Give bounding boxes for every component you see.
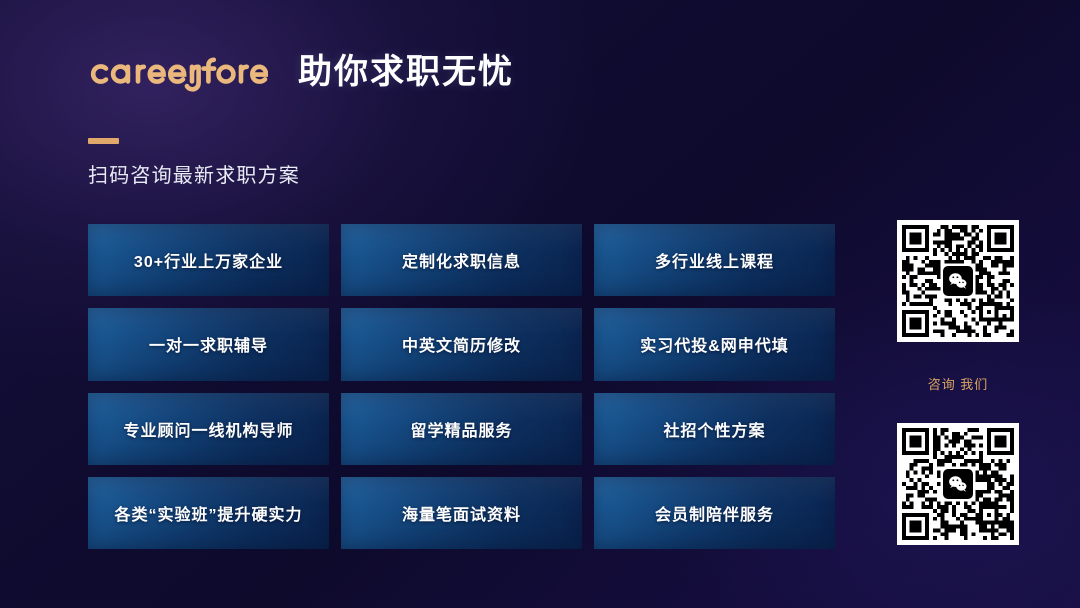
accent-bar [88, 138, 119, 144]
feature-card[interactable]: 会员制陪伴服务 [594, 477, 835, 549]
feature-card[interactable]: 留学精品服务 [341, 393, 582, 465]
feature-card[interactable]: 30+行业上万家企业 [88, 224, 329, 296]
feature-card-label: 留学精品服务 [410, 417, 512, 441]
wechat-icon [943, 266, 973, 296]
header: careerfore 助你求职无忧 [88, 52, 514, 92]
feature-card[interactable]: 专业顾问一线机构导师 [88, 393, 329, 465]
feature-card-label: 定制化求职信息 [402, 248, 521, 272]
feature-card-label: 各类“实验班”提升硬实力 [114, 501, 302, 525]
feature-card-label: 30+行业上万家企业 [134, 248, 283, 272]
wechat-icon [943, 469, 973, 499]
feature-card-label: 专业顾问一线机构导师 [123, 417, 293, 441]
wechat-qr-top[interactable] [897, 220, 1019, 342]
feature-card[interactable]: 社招个性方案 [594, 393, 835, 465]
subtitle: 扫码咨询最新求职方案 [88, 159, 300, 188]
qr-panel: 咨询 我们 [897, 220, 1019, 545]
wechat-qr-bottom[interactable] [897, 423, 1019, 545]
feature-card[interactable]: 实习代投&网申代填 [594, 308, 835, 380]
feature-card[interactable]: 一对一求职辅导 [88, 308, 329, 380]
feature-card-label: 社招个性方案 [663, 417, 765, 441]
feature-card[interactable]: 多行业线上课程 [594, 224, 835, 296]
feature-card[interactable]: 海量笔面试资料 [341, 477, 582, 549]
feature-card-grid: 30+行业上万家企业定制化求职信息多行业线上课程一对一求职辅导中英文简历修改实习… [88, 224, 835, 549]
feature-card[interactable]: 各类“实验班”提升硬实力 [88, 477, 329, 549]
qr-caption: 咨询 我们 [897, 374, 1019, 393]
feature-card-label: 会员制陪伴服务 [655, 501, 774, 525]
feature-card-label: 海量笔面试资料 [402, 501, 521, 525]
slide-canvas: careerfore 助你求职无忧 扫码咨询最新求职方案 30+行业上万家企业定… [0, 0, 1080, 608]
feature-card-label: 一对一求职辅导 [149, 332, 268, 356]
feature-card[interactable]: 定制化求职信息 [341, 224, 582, 296]
page-title: 助你求职无忧 [298, 55, 514, 89]
feature-card-label: 实习代投&网申代填 [640, 332, 789, 356]
feature-card[interactable]: 中英文简历修改 [341, 308, 582, 380]
feature-card-label: 中英文简历修改 [402, 332, 521, 356]
feature-card-label: 多行业线上课程 [655, 248, 774, 272]
brand-logo[interactable]: careerfore [88, 52, 268, 92]
